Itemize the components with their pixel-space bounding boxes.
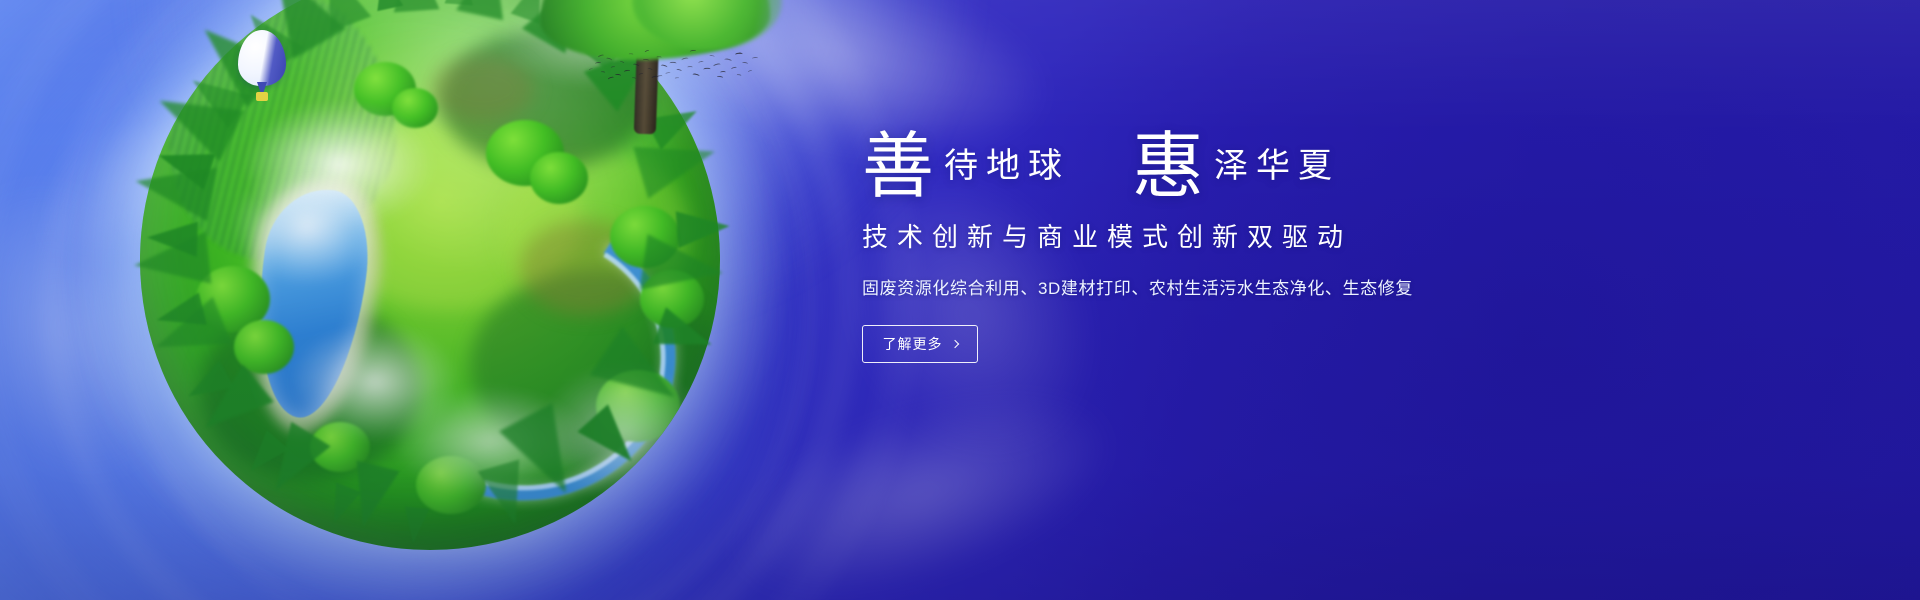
- headline-accent-char-1: 善: [862, 132, 934, 201]
- description: 固废资源化综合利用、3D建材打印、农村生活污水生态净化、生态修复: [862, 274, 1722, 299]
- headline-accent-char-2: 惠: [1132, 132, 1204, 201]
- headline: 善 待地球 惠 泽华夏: [862, 128, 1722, 197]
- learn-more-label: 了解更多: [883, 334, 943, 354]
- hero-banner: 善 待地球 惠 泽华夏 技术创新与商业模式创新双驱动 固废资源化综合利用、3D建…: [0, 0, 1920, 600]
- subtitle: 技术创新与商业模式创新双驱动: [862, 217, 1722, 254]
- chevron-right-icon: [950, 340, 958, 348]
- headline-text-2: 泽华夏: [1214, 149, 1340, 183]
- learn-more-button[interactable]: 了解更多: [862, 325, 978, 363]
- hero-copy-block: 善 待地球 惠 泽华夏 技术创新与商业模式创新双驱动 固废资源化综合利用、3D建…: [862, 128, 1722, 363]
- headline-text-1: 待地球: [944, 149, 1070, 183]
